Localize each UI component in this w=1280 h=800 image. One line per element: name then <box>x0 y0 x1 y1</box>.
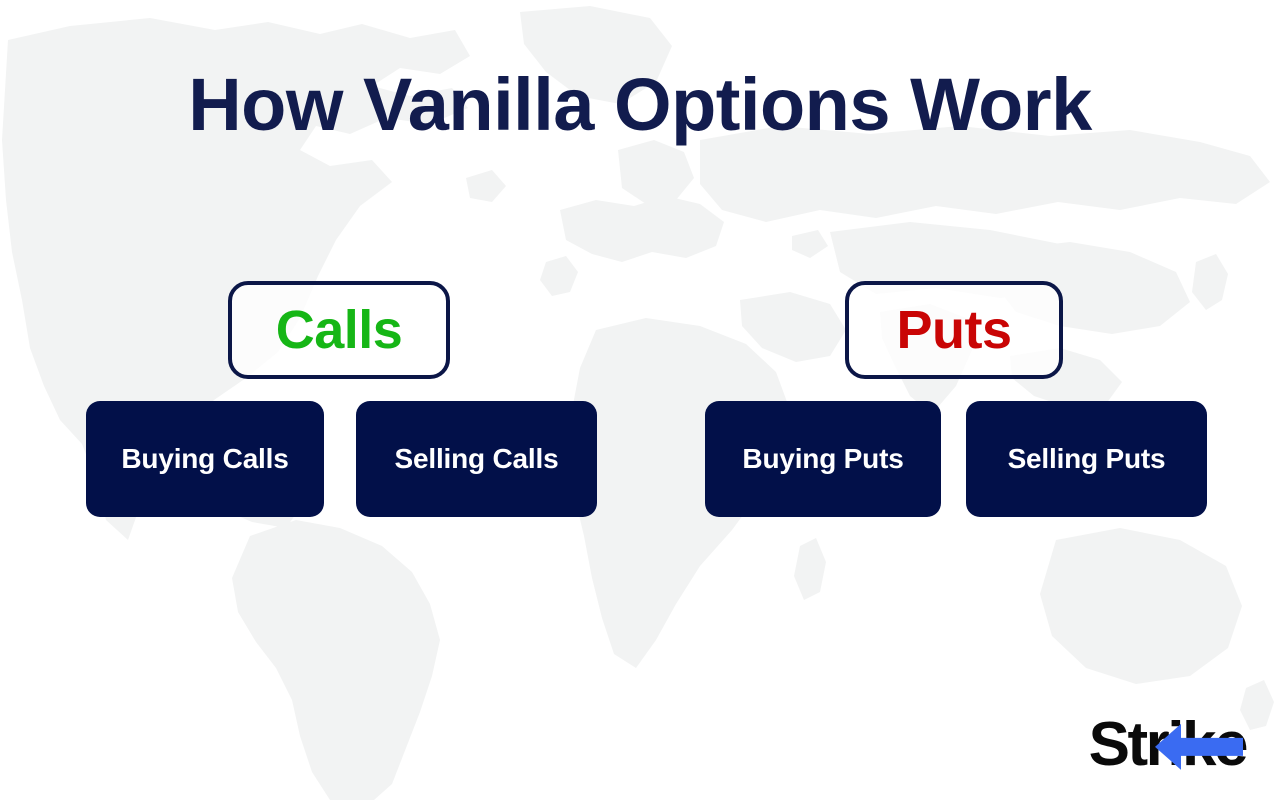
action-label-selling-calls: Selling Calls <box>395 445 559 473</box>
brand-logo-text: Strike <box>1089 714 1246 776</box>
action-label-selling-puts: Selling Puts <box>1008 445 1166 473</box>
category-label-calls: Calls <box>276 303 403 357</box>
action-label-buying-calls: Buying Calls <box>121 445 288 473</box>
action-box-selling-calls[interactable]: Selling Calls <box>356 401 597 517</box>
action-box-selling-puts[interactable]: Selling Puts <box>966 401 1207 517</box>
action-box-buying-puts[interactable]: Buying Puts <box>705 401 941 517</box>
action-box-buying-calls[interactable]: Buying Calls <box>86 401 324 517</box>
action-label-buying-puts: Buying Puts <box>742 445 903 473</box>
category-box-puts[interactable]: Puts <box>845 281 1063 379</box>
category-box-calls[interactable]: Calls <box>228 281 450 379</box>
infographic-content: How Vanilla Options Work Calls Buying Ca… <box>0 0 1280 800</box>
page-title: How Vanilla Options Work <box>0 68 1280 142</box>
brand-logo[interactable]: Strike <box>1089 706 1246 776</box>
category-label-puts: Puts <box>896 303 1011 357</box>
